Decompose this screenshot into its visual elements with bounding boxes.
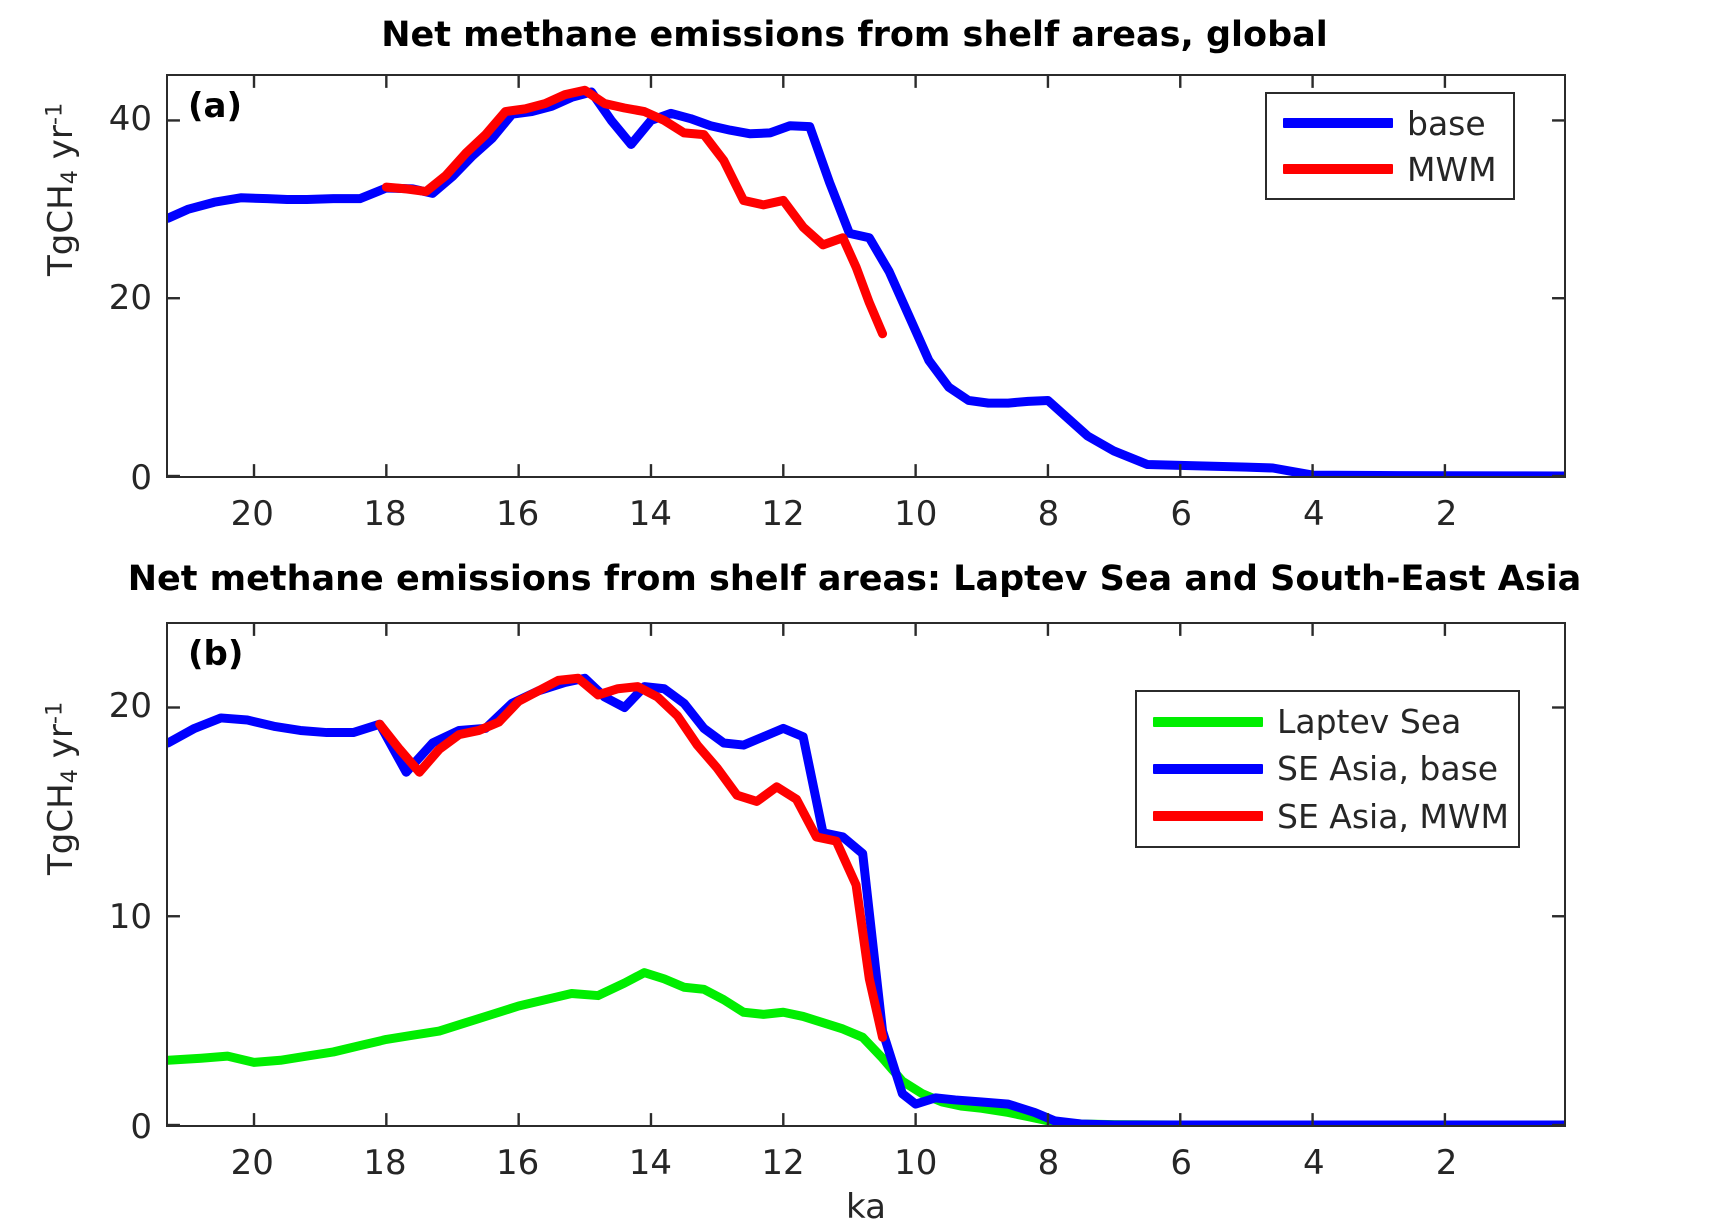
legend-item[interactable]: base [1267, 100, 1513, 146]
y-tick-label: 0 [56, 1107, 152, 1147]
x-tick-label: 18 [363, 494, 406, 534]
x-tick-label: 2 [1436, 494, 1458, 534]
legend-item[interactable]: Laptev Sea [1137, 698, 1518, 745]
y-tick-label: 20 [56, 278, 152, 318]
legend-label: SE Asia, base [1277, 752, 1498, 785]
panel-a-title: Net methane emissions from shelf areas, … [0, 18, 1709, 53]
x-tick-label: 6 [1170, 494, 1192, 534]
x-tick-label: 8 [1038, 494, 1060, 534]
panel-b-letter: (b) [188, 634, 243, 674]
x-tick-label: 20 [231, 494, 274, 534]
x-tick-label: 16 [496, 494, 539, 534]
panel-a-letter: (a) [188, 86, 242, 126]
panel-b-title: Net methane emissions from shelf areas: … [0, 562, 1709, 597]
y-tick-label: 20 [56, 686, 152, 726]
legend-label: MWM [1407, 153, 1497, 186]
x-tick-label: 14 [629, 494, 672, 534]
x-tick-label: 20 [231, 1143, 274, 1183]
x-tick-label: 2 [1436, 1143, 1458, 1183]
x-tick-label: 12 [761, 494, 804, 534]
legend-color-swatch [1153, 717, 1263, 727]
legend-item[interactable]: SE Asia, base [1137, 745, 1518, 792]
x-tick-label: 4 [1303, 1143, 1325, 1183]
legend-color-swatch [1283, 164, 1393, 174]
y-tick-label: 10 [56, 897, 152, 937]
legend-color-swatch [1153, 811, 1263, 821]
legend-color-swatch [1283, 118, 1393, 128]
y-axis-label-text: TgCH4 yr-1 [41, 701, 81, 874]
y-tick-label: 0 [56, 458, 152, 498]
x-tick-label: 14 [629, 1143, 672, 1183]
legend-label: base [1407, 107, 1486, 140]
series-line-laptev-sea [168, 973, 1564, 1125]
x-tick-label: 10 [894, 1143, 937, 1183]
x-tick-label: 4 [1303, 494, 1325, 534]
x-tick-label: 8 [1038, 1143, 1060, 1183]
figure-root: Net methane emissions from shelf areas, … [0, 0, 1709, 1215]
x-tick-label: 18 [363, 1143, 406, 1183]
legend-item[interactable]: MWM [1267, 146, 1513, 192]
legend-label: Laptev Sea [1277, 705, 1461, 738]
legend-label: SE Asia, MWM [1277, 800, 1509, 833]
panel-a-legend[interactable]: baseMWM [1265, 92, 1515, 200]
x-axis-label: ka [846, 1187, 886, 1227]
x-tick-label: 6 [1170, 1143, 1192, 1183]
x-tick-label: 12 [761, 1143, 804, 1183]
legend-color-swatch [1153, 764, 1263, 774]
y-tick-label: 40 [56, 99, 152, 139]
x-tick-label: 10 [894, 494, 937, 534]
x-tick-label: 16 [496, 1143, 539, 1183]
panel-b-legend[interactable]: Laptev SeaSE Asia, baseSE Asia, MWM [1135, 690, 1520, 848]
legend-item[interactable]: SE Asia, MWM [1137, 793, 1518, 840]
